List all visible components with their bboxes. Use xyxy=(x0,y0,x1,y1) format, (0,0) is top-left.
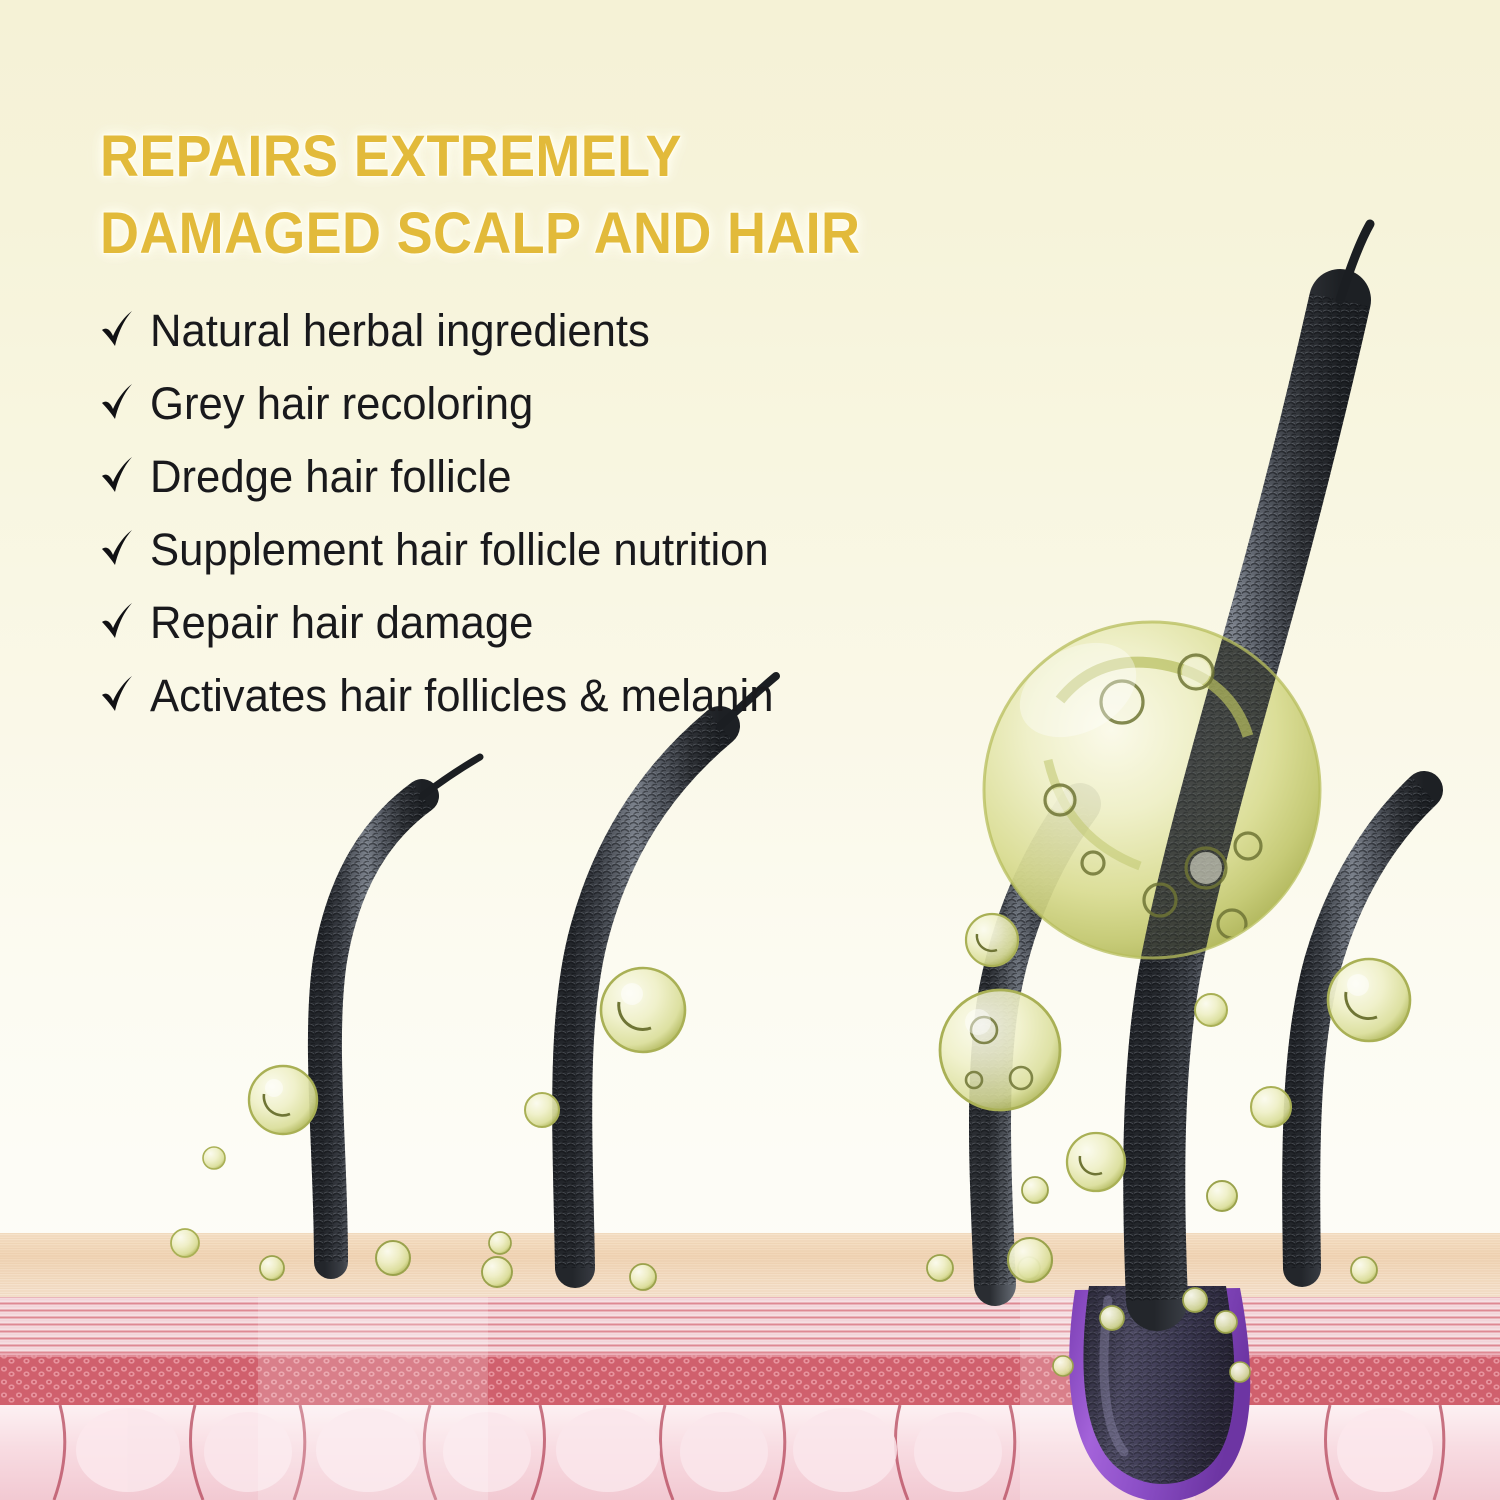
benefits-list: Natural herbal ingredients Grey hair rec… xyxy=(100,306,1000,718)
benefit-label: Activates hair follicles & melanin xyxy=(150,673,773,718)
list-item: Dredge hair follicle xyxy=(100,452,1000,499)
benefit-label: Repair hair damage xyxy=(150,600,533,645)
hair-strand-middle xyxy=(572,676,776,1268)
benefit-label: Supplement hair follicle nutrition xyxy=(150,527,769,572)
checkmark-icon xyxy=(100,529,134,569)
checkmark-icon xyxy=(100,310,134,350)
benefit-label: Grey hair recoloring xyxy=(150,381,533,426)
benefit-label: Dredge hair follicle xyxy=(150,454,512,499)
product-benefits-infographic: REPAIRS EXTREMELY DAMAGED SCALP AND HAIR… xyxy=(0,0,1500,1500)
checkmark-icon xyxy=(100,383,134,423)
benefit-label: Natural herbal ingredients xyxy=(150,308,650,353)
list-item: Natural herbal ingredients xyxy=(100,306,1000,353)
hair-strand-left xyxy=(325,757,480,1262)
checkmark-icon xyxy=(100,602,134,642)
benefits-copy-block: REPAIRS EXTREMELY DAMAGED SCALP AND HAIR… xyxy=(0,0,1000,744)
checkmark-icon xyxy=(100,675,134,715)
list-item: Repair hair damage xyxy=(100,598,1000,645)
list-item: Activates hair follicles & melanin xyxy=(100,671,1000,718)
headline-line-2: DAMAGED SCALP AND HAIR xyxy=(100,195,937,272)
page-title: REPAIRS EXTREMELY DAMAGED SCALP AND HAIR xyxy=(100,118,937,272)
skin-cross-section xyxy=(0,1233,1500,1500)
checkmark-icon xyxy=(100,456,134,496)
headline-line-1: REPAIRS EXTREMELY xyxy=(100,118,937,195)
list-item: Grey hair recoloring xyxy=(100,379,1000,426)
list-item: Supplement hair follicle nutrition xyxy=(100,525,1000,572)
